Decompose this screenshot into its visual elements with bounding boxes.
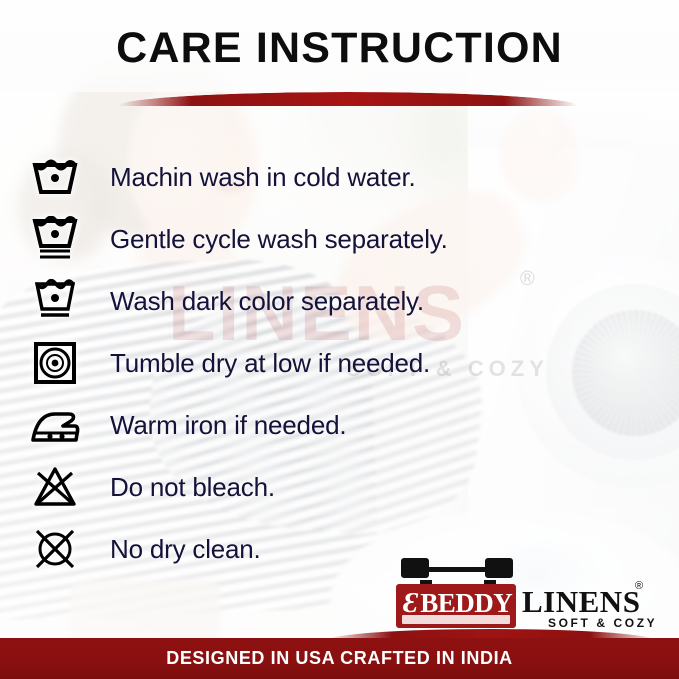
logo-brand-primary-text: BEDDY bbox=[420, 588, 512, 619]
bottom-banner: DESIGNED IN USA CRAFTED IN INDIA bbox=[0, 638, 679, 679]
do-not-bleach-icon bbox=[0, 465, 110, 509]
care-instruction-card: LINENS ® SOFT & COZY CARE INSTRUCTION Ma… bbox=[0, 0, 679, 679]
care-row-text: No dry clean. bbox=[110, 534, 261, 565]
care-row-text: Tumble dry at low if needed. bbox=[110, 348, 430, 379]
care-row-text: Wash dark color separately. bbox=[110, 286, 424, 317]
wash-tub-one-dot-two-bars-icon bbox=[0, 216, 110, 262]
care-row-text: Machin wash in cold water. bbox=[110, 162, 416, 193]
tumble-dry-low-icon bbox=[0, 341, 110, 385]
care-instruction-list: Machin wash in cold water. Gentle cycle … bbox=[0, 146, 679, 580]
care-row: Do not bleach. bbox=[0, 456, 679, 518]
iron-two-dots-icon bbox=[0, 405, 110, 445]
title-divider bbox=[118, 92, 578, 106]
care-row: Gentle cycle wash separately. bbox=[0, 208, 679, 270]
bottom-banner-text: DESIGNED IN USA CRAFTED IN INDIA bbox=[166, 648, 513, 669]
care-row: Wash dark color separately. bbox=[0, 270, 679, 332]
page-title: CARE INSTRUCTION bbox=[0, 24, 679, 73]
wash-tub-one-dot-one-bar-icon bbox=[0, 279, 110, 323]
care-row: Tumble dry at low if needed. bbox=[0, 332, 679, 394]
care-row-text: Warm iron if needed. bbox=[110, 410, 346, 441]
brand-logo: Ɛ BEDDY LINENS ® SOFT & COZY bbox=[396, 556, 660, 634]
title-divider-swoosh bbox=[118, 92, 578, 106]
wash-tub-one-dot-icon bbox=[0, 158, 110, 196]
care-row: Warm iron if needed. bbox=[0, 394, 679, 456]
registered-trademark-icon: ® bbox=[635, 580, 643, 592]
do-not-dry-clean-icon bbox=[0, 526, 110, 572]
logo-script-initial: Ɛ bbox=[396, 587, 420, 620]
care-row: Machin wash in cold water. bbox=[0, 146, 679, 208]
logo-tagline: SOFT & COZY bbox=[548, 616, 657, 630]
logo-brand-secondary: LINENS bbox=[522, 584, 640, 620]
logo-brand-primary: Ɛ BEDDY bbox=[396, 586, 518, 620]
care-row-text: Gentle cycle wash separately. bbox=[110, 224, 448, 255]
care-row-text: Do not bleach. bbox=[110, 472, 275, 503]
